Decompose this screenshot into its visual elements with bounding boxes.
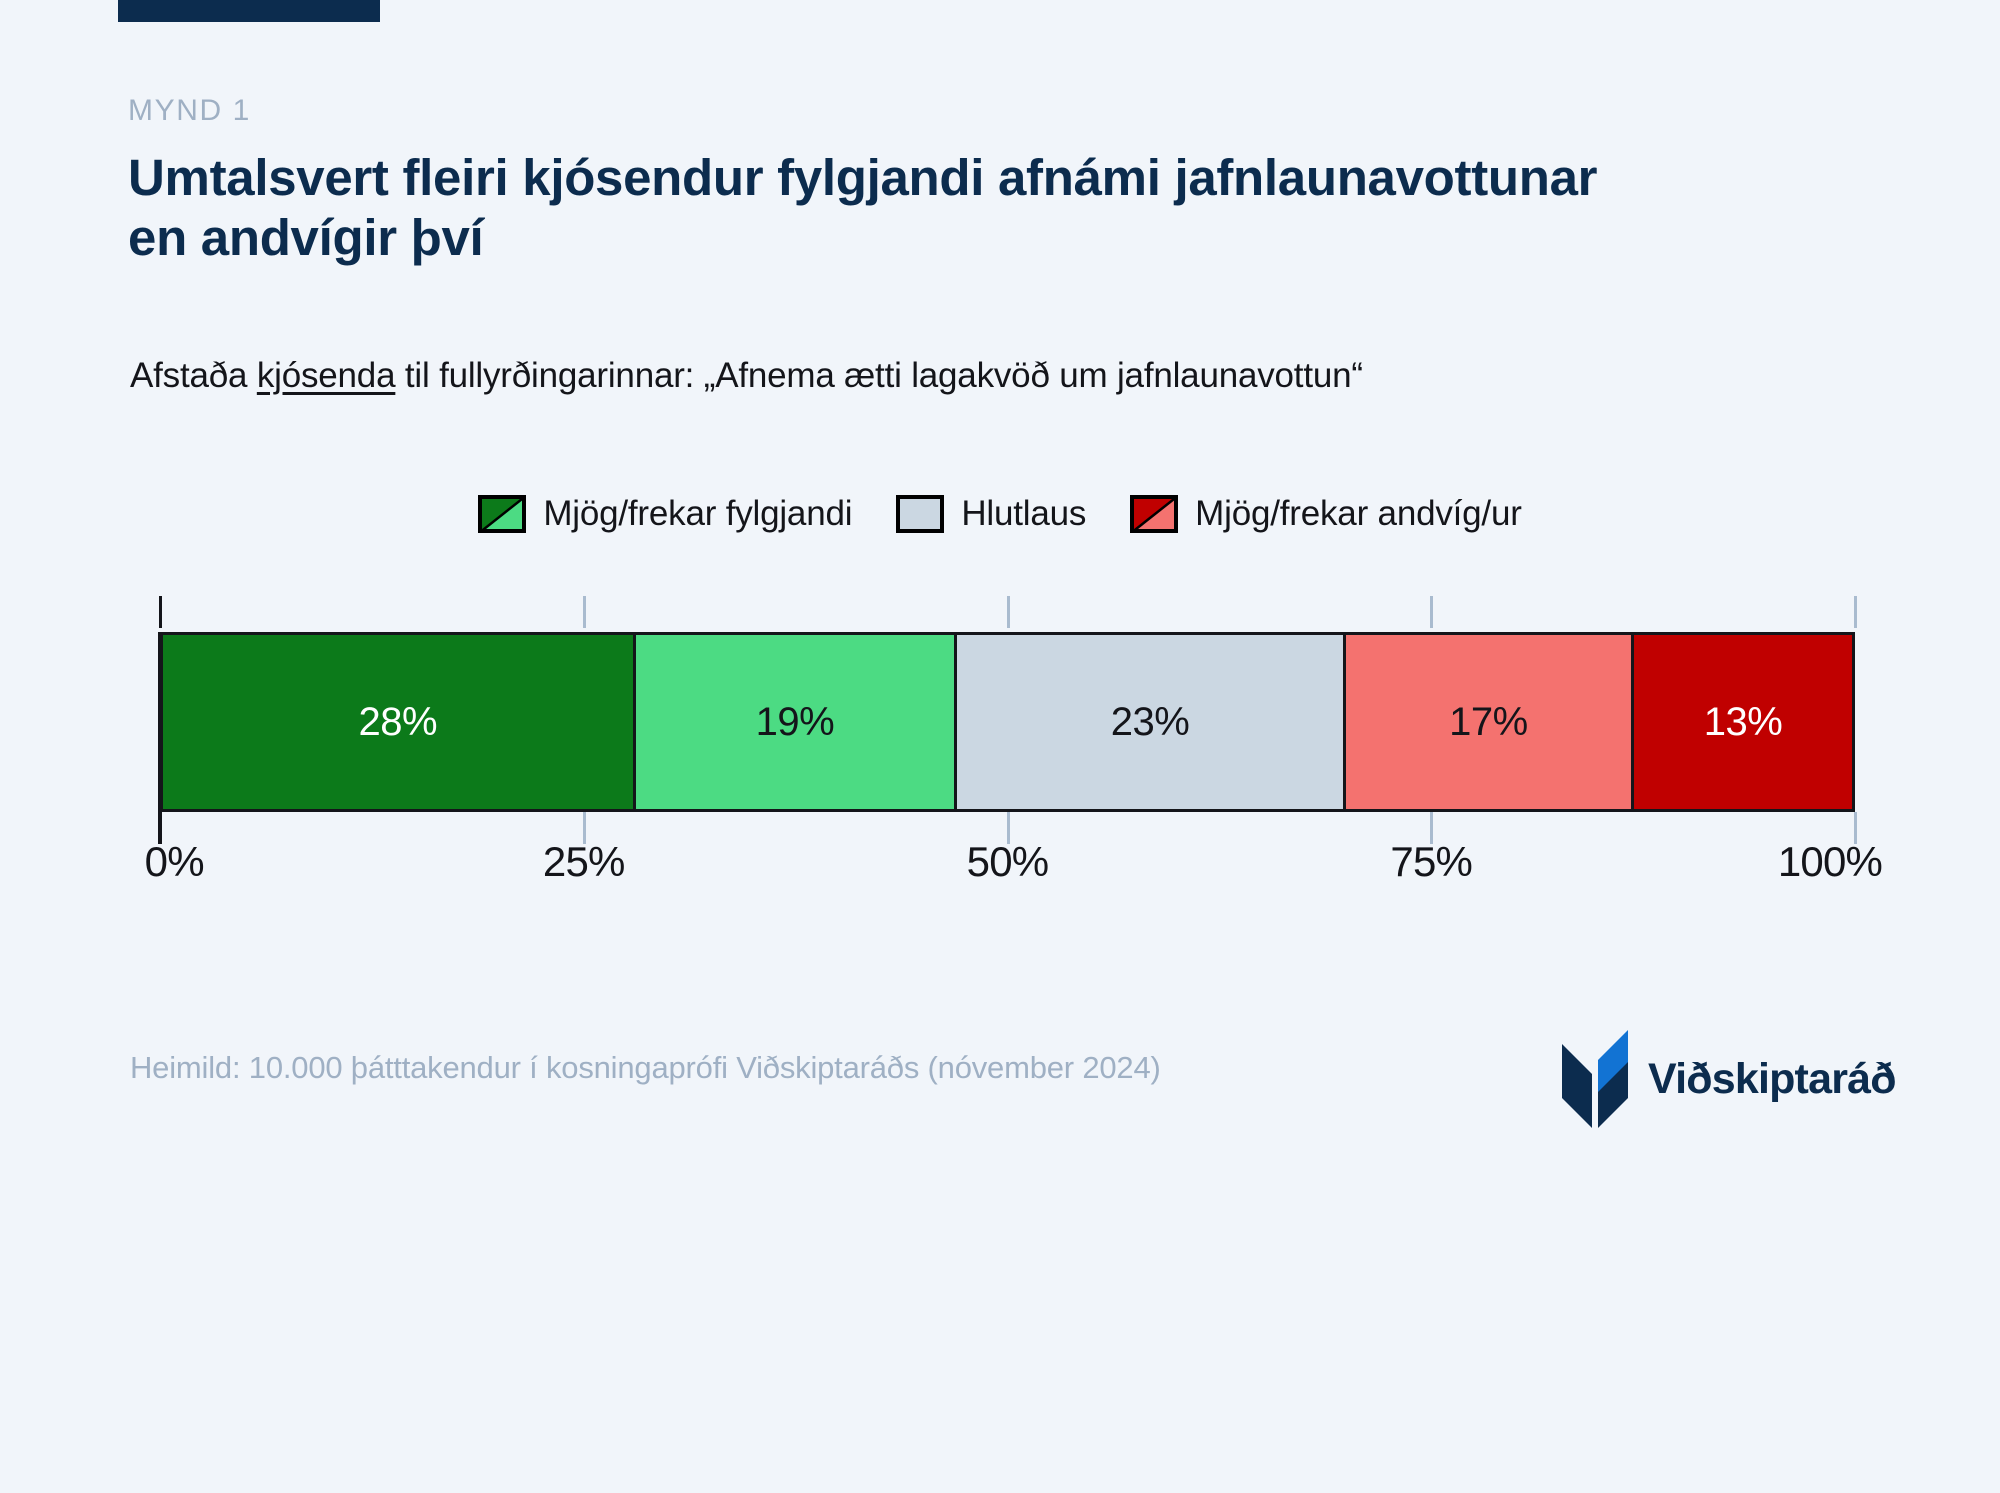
chart-header: MYND 1 Umtalsvert fleiri kjósendur fylgj… — [128, 96, 1918, 267]
bar-segment: 13% — [1634, 635, 1852, 809]
axis-tick-label: 0% — [145, 838, 204, 886]
axis-tick-label: 75% — [1390, 838, 1472, 886]
axis-tick — [159, 596, 162, 628]
vidskiptarad-leaf-icon — [1562, 1030, 1628, 1128]
bar-segment: 19% — [636, 635, 958, 809]
legend-label-agree: Mjög/frekar fylgjandi — [543, 494, 852, 534]
legend-label-disagree: Mjög/frekar andvíg/ur — [1195, 494, 1522, 534]
stacked-bar-chart: 28%19%23%17%13% — [160, 632, 1855, 812]
axis-tick — [1430, 596, 1433, 628]
top-accent-bar — [118, 0, 380, 22]
legend-item-agree[interactable]: Mjög/frekar fylgjandi — [478, 494, 852, 534]
chart-legend: Mjög/frekar fylgjandi Hlutlaus Mjög/frek… — [0, 494, 2000, 534]
legend-swatch-neutral-icon — [896, 495, 944, 533]
legend-swatch-agree-icon — [478, 495, 526, 533]
bar-segment: 17% — [1346, 635, 1634, 809]
axis-tick-label: 100% — [1778, 838, 1882, 886]
source-note: Heimild: 10.000 þátttakendur í kosningap… — [130, 1050, 1161, 1086]
legend-swatch-disagree-icon — [1130, 495, 1178, 533]
stacked-bar: 28%19%23%17%13% — [160, 632, 1855, 812]
page-title: Umtalsvert fleiri kjósendur fylgjandi af… — [128, 148, 1918, 267]
legend-label-neutral: Hlutlaus — [961, 494, 1086, 534]
figure-label: MYND 1 — [128, 96, 1918, 126]
brand-logo[interactable]: Viðskiptaráð — [1562, 1030, 1896, 1128]
brand-wordmark: Viðskiptaráð — [1648, 1058, 1896, 1101]
title-line-1: Umtalsvert fleiri kjósendur fylgjandi af… — [128, 149, 1597, 206]
axis-tick-label: 25% — [543, 838, 625, 886]
axis-tick-label: 50% — [967, 838, 1049, 886]
legend-item-disagree[interactable]: Mjög/frekar andvíg/ur — [1130, 494, 1522, 534]
axis-tick — [1854, 596, 1857, 628]
subtitle-prefix: Afstaða — [130, 356, 257, 395]
title-line-2: en andvígir því — [128, 208, 1918, 268]
axis-tick — [583, 596, 586, 628]
axis-tick — [1007, 596, 1010, 628]
x-axis-tick-labels: 0%25%50%75%100% — [160, 838, 1855, 898]
chart-subtitle: Afstaða kjósenda til fullyrðingarinnar: … — [130, 356, 1363, 396]
subtitle-suffix: til fullyrðingarinnar: „Afnema ætti laga… — [395, 356, 1363, 395]
subtitle-underlined-term: kjósenda — [257, 356, 396, 395]
bar-segment: 28% — [163, 635, 636, 809]
bar-segment: 23% — [957, 635, 1346, 809]
legend-item-neutral[interactable]: Hlutlaus — [896, 494, 1086, 534]
